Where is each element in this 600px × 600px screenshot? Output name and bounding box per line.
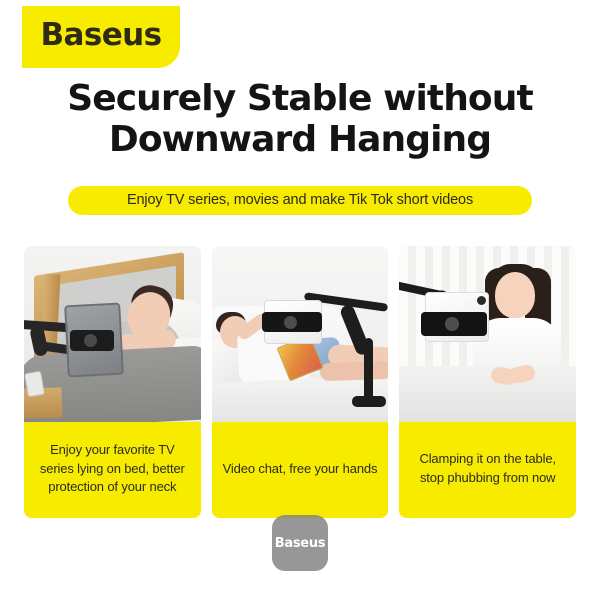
product-photo-bed: [24, 246, 201, 422]
feature-caption-bed: Enjoy your favorite TV series lying on b…: [24, 422, 201, 518]
page-headline: Securely Stable without Downward Hanging: [0, 78, 600, 160]
headline-line-2: Downward Hanging: [0, 119, 600, 160]
footer-brand-badge: Baseus: [272, 515, 328, 571]
subtitle-text: Enjoy TV series, movies and make Tik Tok…: [127, 193, 473, 208]
person-leg-lower: [319, 361, 388, 382]
person-head: [495, 272, 535, 318]
feature-caption-sofa: Video chat, free your hands: [212, 422, 389, 518]
feature-card-sofa: Video chat, free your hands: [212, 246, 389, 518]
stand-base: [352, 396, 386, 407]
brand-logo-text: Baseus: [41, 20, 162, 51]
brand-logo-badge: Baseus: [22, 6, 180, 68]
clamp-knob-icon: [284, 316, 297, 329]
product-photo-desk: [399, 246, 576, 422]
product-photo-sofa: [212, 246, 389, 422]
feature-caption-bed-text: Enjoy your favorite TV series lying on b…: [32, 441, 193, 498]
scene-bedroom: [24, 246, 201, 422]
scene-livingroom: [212, 246, 389, 422]
feature-caption-desk-text: Clamping it on the table, stop phubbing …: [407, 450, 568, 488]
desk-surface: [399, 366, 576, 422]
headline-line-1: Securely Stable without: [0, 78, 600, 119]
scene-desk: [399, 246, 576, 422]
clamp-knob-icon: [84, 334, 97, 347]
feature-card-row: Enjoy your favorite TV series lying on b…: [24, 246, 576, 518]
subtitle-pill: Enjoy TV series, movies and make Tik Tok…: [68, 186, 532, 215]
footer-brand-badge-text: Baseus: [275, 537, 325, 550]
feature-card-bed: Enjoy your favorite TV series lying on b…: [24, 246, 201, 518]
feature-card-desk: Clamping it on the table, stop phubbing …: [399, 246, 576, 518]
feature-caption-desk: Clamping it on the table, stop phubbing …: [399, 422, 576, 518]
feature-caption-sofa-text: Video chat, free your hands: [223, 460, 378, 479]
